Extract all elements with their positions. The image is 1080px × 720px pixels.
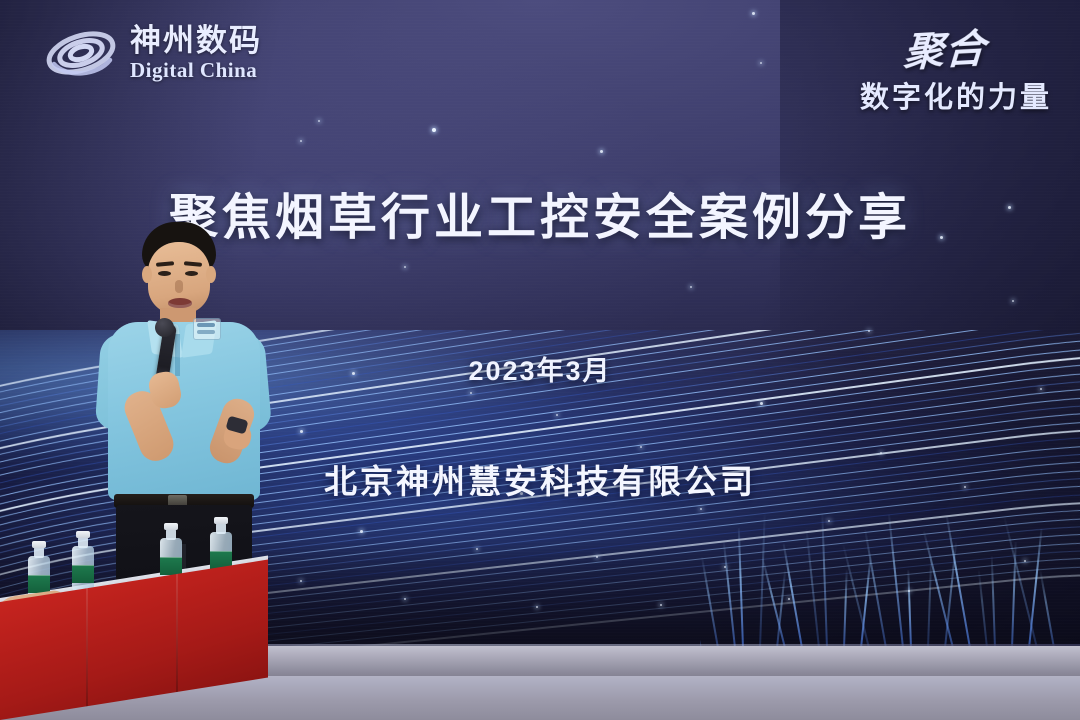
stage-photo-scene: 神州数码 Digital China 聚合 数字化的力量 聚焦烟草行业工控安全案… [0,0,1080,720]
event-slogan-block: 聚合 数字化的力量 [860,18,1052,116]
slogan-subtitle: 数字化的力量 [860,74,1052,116]
slogan-calligraphy: 聚合 [902,16,987,78]
speaker-shirt-placket [175,334,180,376]
brand-text: 神州数码 Digital China [130,25,262,81]
speaker-mouth [168,298,192,308]
speaker-nose [175,280,183,293]
speaker-chest-logo-icon [193,318,221,340]
water-bottle [72,546,94,592]
speaker-ear-left [142,266,152,283]
digital-china-spiral-logo-icon [44,20,118,86]
brand-name-en: Digital China [130,60,262,81]
speaker-eye-right [185,271,198,276]
speaker-ear-right [206,266,216,283]
brand-logo-block: 神州数码 Digital China [44,20,262,86]
speaker-eye-left [158,271,171,276]
foreground-table [0,570,268,720]
brand-name-cn: 神州数码 [130,25,262,56]
